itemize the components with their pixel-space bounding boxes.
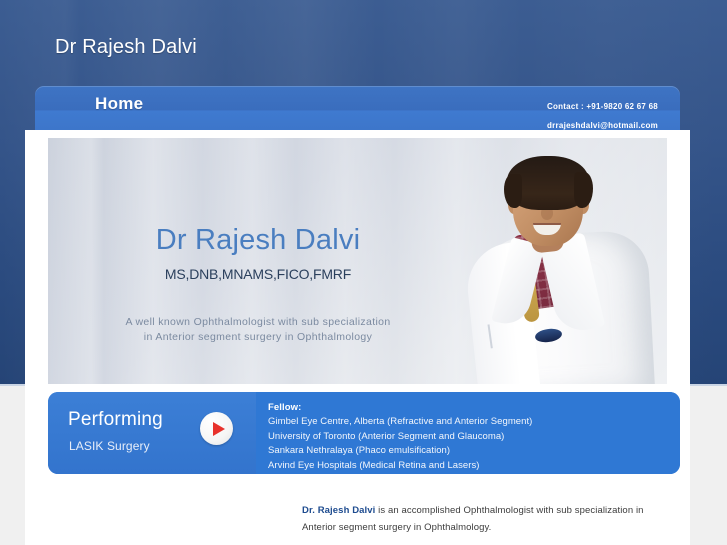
list-item: Sankara Nethralaya (Phaco emulsification… [268, 444, 670, 459]
nav-item-home[interactable]: Home [95, 94, 143, 114]
contact-block: Contact : +91-9820 62 67 68 drrajeshdalv… [547, 97, 658, 130]
play-button[interactable] [200, 412, 233, 445]
hero-tagline: A well known Ophthalmologist with sub sp… [48, 315, 468, 345]
hero-tagline-line1: A well known Ophthalmologist with sub sp… [48, 315, 468, 330]
list-item: Arvind Eye Hospitals (Medical Retina and… [268, 459, 670, 474]
hero-banner: Dr Rajesh Dalvi MS,DNB,MNAMS,FICO,FMRF A… [48, 138, 667, 384]
performing-panel-left: Performing LASIK Surgery [48, 392, 256, 474]
right-gutter [690, 386, 727, 545]
fellowship-list: Fellow: Gimbel Eye Centre, Alberta (Refr… [256, 392, 680, 474]
page-root: Dr Rajesh Dalvi Home Contact : +91-9820 … [0, 0, 727, 545]
hero-tagline-line2: in Anterior segment surgery in Ophthalmo… [48, 330, 468, 345]
performing-title: Performing [68, 409, 163, 431]
list-item: Gimbel Eye Centre, Alberta (Refractive a… [268, 415, 670, 430]
hair-side-left [504, 174, 522, 208]
hero-doctor-name: Dr Rajesh Dalvi [48, 224, 468, 257]
play-icon [213, 422, 225, 436]
site-title: Dr Rajesh Dalvi [55, 36, 197, 59]
intro-lead: Dr. Rajesh Dalvi [302, 505, 375, 516]
navigation-bar: Home Contact : +91-9820 62 67 68 drrajes… [35, 86, 680, 130]
contact-phone: Contact : +91-9820 62 67 68 [547, 97, 658, 116]
hair-side-right [574, 172, 593, 208]
hero-degrees: MS,DNB,MNAMS,FICO,FMRF [48, 266, 468, 282]
fellow-heading: Fellow: [268, 401, 670, 415]
performing-panel: Performing LASIK Surgery Fellow: Gimbel … [48, 392, 680, 474]
intro-paragraph: Dr. Rajesh Dalvi is an accomplished Opht… [302, 502, 677, 536]
performing-subtitle: LASIK Surgery [69, 439, 150, 453]
left-gutter [0, 386, 25, 545]
content-sheet: Dr Rajesh Dalvi MS,DNB,MNAMS,FICO,FMRF A… [25, 130, 690, 545]
doctor-portrait [453, 144, 667, 384]
coat-pocket [488, 320, 527, 349]
list-item: University of Toronto (Anterior Segment … [268, 430, 670, 445]
contact-email[interactable]: drrajeshdalvi@hotmail.com [547, 116, 658, 130]
